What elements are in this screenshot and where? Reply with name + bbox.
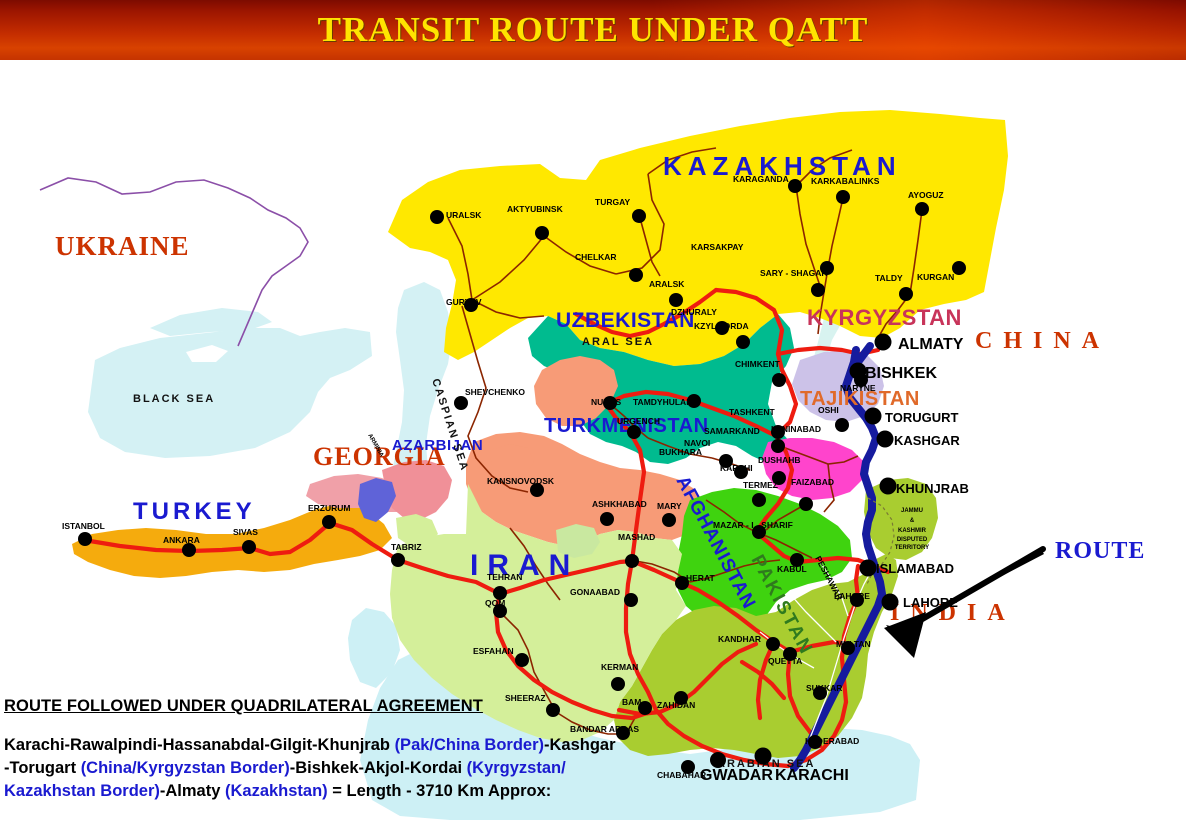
city-dot[interactable] <box>799 497 813 511</box>
city-dot[interactable] <box>430 210 444 224</box>
city-label: MASHAD <box>618 532 655 542</box>
city-label: LENINABAD <box>771 424 821 434</box>
city-label: ESFAHAN <box>473 646 514 656</box>
sea-label-black-sea: BLACK SEA <box>133 393 215 405</box>
caption-l2-border: (China/Kyrgyzstan Border) <box>81 759 290 777</box>
page-title: TRANSIT ROUTE UNDER QATT <box>318 10 869 50</box>
city-dot-almaty[interactable] <box>875 334 892 351</box>
city-label: DUSHAHB <box>758 455 801 465</box>
city-label: KERMAN <box>601 662 638 672</box>
country-label-turkey: TURKEY <box>133 498 256 525</box>
city-dot[interactable] <box>611 677 625 691</box>
city-label: QUETTA <box>768 656 802 666</box>
city-label: GONAABAD <box>570 587 620 597</box>
city-label: SHEVCHENKO <box>465 387 525 397</box>
city-dot[interactable] <box>899 287 913 301</box>
city-label: NUKAS <box>591 397 622 407</box>
caption-l3-country: (Kazakhstan) <box>225 782 328 800</box>
city-dot-gwadar[interactable] <box>710 752 726 768</box>
caption-l1-a: Karachi-Rawalpindi-Hassanabdal-Gilgit-Kh… <box>4 736 395 754</box>
city-dot-lahore[interactable] <box>882 594 899 611</box>
city-dot[interactable] <box>752 493 766 507</box>
caption-l1-border: (Pak/China Border) <box>395 736 544 754</box>
caption-line-3: Kazakhstan Border)-Almaty (Kazakhstan) =… <box>4 780 704 803</box>
city-dot[interactable] <box>515 653 529 667</box>
city-dot[interactable] <box>771 439 785 453</box>
city-label: TASHKENT <box>729 407 775 417</box>
city-label: TALDY <box>875 273 903 283</box>
city-dot[interactable] <box>788 179 802 193</box>
city-label-torugurt: TORUGURT <box>885 410 958 425</box>
city-label: FAIZABAD <box>791 477 834 487</box>
country-label-ukraine: UKRAINE <box>55 231 190 261</box>
city-dot[interactable] <box>772 373 786 387</box>
city-label: OSHI <box>818 405 839 415</box>
caption-line-1: Karachi-Rawalpindi-Hassanabdal-Gilgit-Kh… <box>4 734 704 757</box>
city-label: KANDHAR <box>718 634 761 644</box>
kashmir-note-kashmir: KASHMIR <box>898 528 927 534</box>
kashmir-note-jammu: JAMMU <box>901 508 923 514</box>
city-label: ANKARA <box>163 535 200 545</box>
city-dot[interactable] <box>669 293 683 307</box>
city-dot[interactable] <box>454 396 468 410</box>
city-label: HERAT <box>686 573 715 583</box>
city-label: URALSK <box>446 210 482 220</box>
city-label: CHELKAR <box>575 252 617 262</box>
caption-l2-border2: (Kyrgyzstan/ <box>467 759 566 777</box>
city-dot[interactable] <box>322 515 336 529</box>
title-banner: TRANSIT ROUTE UNDER QATT <box>0 0 1186 60</box>
caption-l3-a: -Almaty <box>160 782 225 800</box>
city-dot[interactable] <box>182 543 196 557</box>
city-dot-karachi[interactable] <box>755 748 772 765</box>
city-dot[interactable] <box>766 637 780 651</box>
city-label: KURGAN <box>917 272 954 282</box>
city-label: KARSHI <box>720 463 753 473</box>
city-label: CHIMKENT <box>735 359 781 369</box>
city-label: LAHORE <box>834 591 870 601</box>
city-label: MAZAR - I - SHARIF <box>713 520 793 530</box>
city-label: KARKABALINKS <box>811 176 880 186</box>
city-label: ISTANBOL <box>62 521 105 531</box>
caption-title: ROUTE FOLLOWED UNDER QUADRILATERAL AGREE… <box>4 697 704 716</box>
city-dot[interactable] <box>535 226 549 240</box>
city-label-gwadar: GWADAR <box>700 767 773 784</box>
city-label: TERMEZ <box>743 480 778 490</box>
city-label-khunjrab: KHUNJRAB <box>896 481 969 496</box>
city-label-kashgar: KASHGAR <box>894 433 960 448</box>
city-label: TAMDYHULAK <box>633 397 693 407</box>
city-dot[interactable] <box>835 418 849 432</box>
caption-l1-b: -Kashgar <box>544 736 616 754</box>
city-label: ASHKHABAD <box>592 499 647 509</box>
city-label: TEHRAN <box>487 572 522 582</box>
city-dot-khunjrab[interactable] <box>880 478 897 495</box>
caption-l3-border: Kazakhstan Border) <box>4 782 160 800</box>
city-label-islamabad: ISLAMABAD <box>876 561 954 576</box>
city-dot[interactable] <box>632 209 646 223</box>
city-label: KANSNOVODSK <box>487 476 555 486</box>
city-label: SIVAS <box>233 527 258 537</box>
city-label: ARALSK <box>649 279 685 289</box>
city-dot[interactable] <box>78 532 92 546</box>
city-label: KARSAKPAY <box>691 242 744 252</box>
city-label: URGENCH <box>617 416 660 426</box>
city-dot[interactable] <box>915 202 929 216</box>
city-label: KZYL - ORDA <box>694 321 749 331</box>
city-dot[interactable] <box>627 425 641 439</box>
city-dot-bishkek[interactable] <box>850 363 867 380</box>
city-dot-kashgar[interactable] <box>877 431 894 448</box>
country-label-kyrgyzstan: KYRGYZSTAN <box>807 305 962 330</box>
caption-l3-b: = Length - 3710 Km Approx: <box>328 782 552 800</box>
city-dot-torugurt[interactable] <box>865 408 882 425</box>
caption-l2-b: -Bishkek-Akjol-Kordai <box>290 759 467 777</box>
city-label: KARAGANDA <box>733 174 789 184</box>
city-label: TURGAY <box>595 197 630 207</box>
city-dot[interactable] <box>600 512 614 526</box>
country-label-azarbijan: AZARBIJAN <box>392 437 483 454</box>
city-label: SAMARKAND <box>704 426 760 436</box>
city-dot[interactable] <box>629 268 643 282</box>
city-label: TABRIZ <box>391 542 422 552</box>
city-label-almaty: ALMATY <box>898 336 964 353</box>
caption-l2-a: -Torugart <box>4 759 81 777</box>
city-dot[interactable] <box>242 540 256 554</box>
city-label: AYOGUZ <box>908 190 944 200</box>
city-label: HYDERABAD <box>805 736 859 746</box>
city-label: GURYEV <box>446 297 482 307</box>
city-dot[interactable] <box>736 335 750 349</box>
city-label-bishkek: BISHKEK <box>865 365 937 382</box>
city-dot[interactable] <box>391 553 405 567</box>
kashmir-note-territory: TERRITORY <box>895 545 929 551</box>
city-dot[interactable] <box>625 554 639 568</box>
city-dot-islamabad[interactable] <box>860 560 877 577</box>
city-dot[interactable] <box>811 283 825 297</box>
city-label: NARYNE <box>840 383 876 393</box>
city-label: DZHURALY <box>671 307 717 317</box>
city-label-karachi: KARACHI <box>775 767 849 784</box>
route-callout-label: ROUTE <box>1055 538 1145 564</box>
caption-line-2: -Torugart (China/Kyrgyzstan Border)-Bish… <box>4 757 704 780</box>
city-label: KABUL <box>777 564 807 574</box>
city-dot[interactable] <box>624 593 638 607</box>
caption-block: ROUTE FOLLOWED UNDER QUADRILATERAL AGREE… <box>4 697 704 803</box>
sea-label-aral-sea: ARAL SEA <box>582 336 654 348</box>
city-label: MULTAN <box>836 639 871 649</box>
caption-body: Karachi-Rawalpindi-Hassanabdal-Gilgit-Kh… <box>4 734 704 803</box>
city-label: SUKKAR <box>806 683 842 693</box>
city-label: MARY <box>657 501 682 511</box>
city-label: AKTYUBINSK <box>507 204 564 214</box>
country-label-china: CHINA <box>975 328 1110 354</box>
city-label: ERZURUM <box>308 503 351 513</box>
city-label: QOM <box>485 598 505 608</box>
city-dot[interactable] <box>662 513 676 527</box>
city-label: SARY - SHAGAR <box>760 268 828 278</box>
city-label: BUKHARA <box>659 447 702 457</box>
kashmir-note-amp: & <box>910 518 915 524</box>
city-dot[interactable] <box>836 190 850 204</box>
kashmir-note-disputed: DISPUTED <box>897 537 928 543</box>
